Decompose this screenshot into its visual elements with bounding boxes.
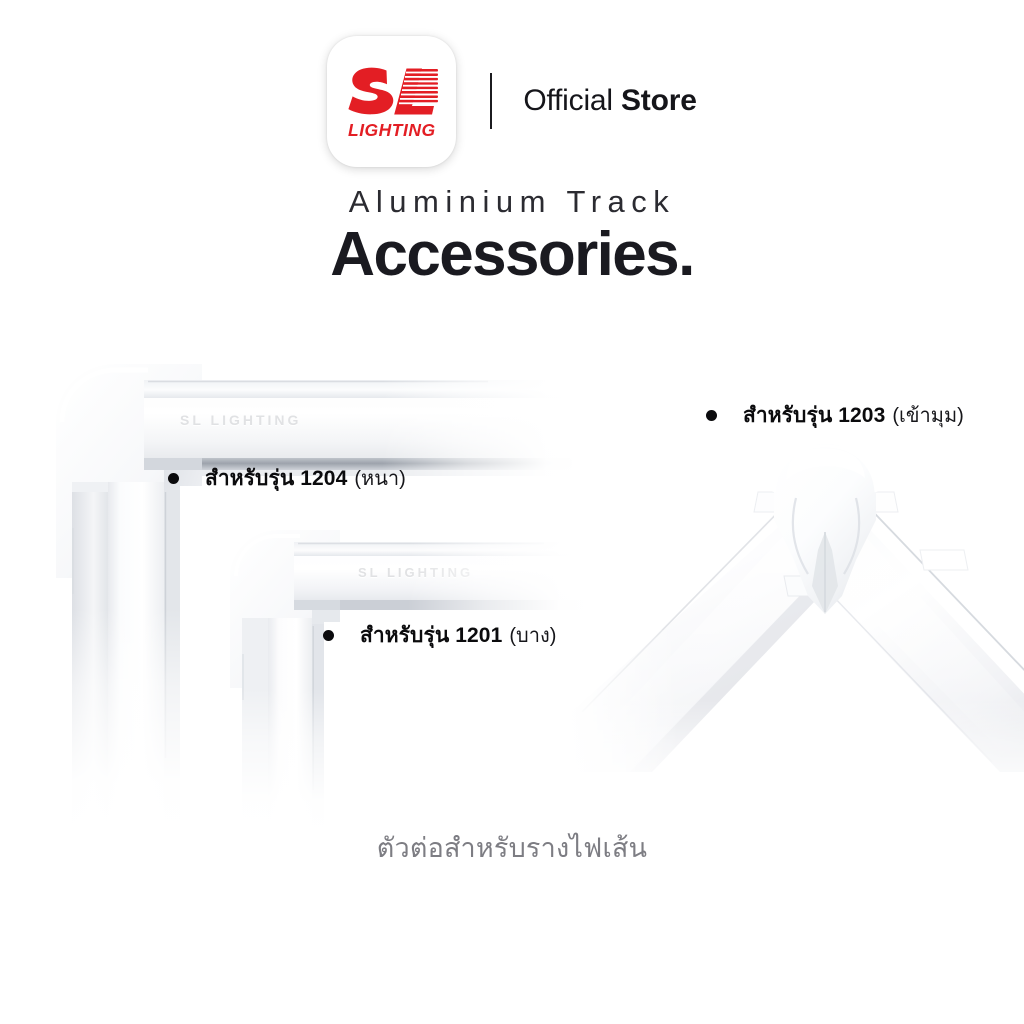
callout-qualifier-1204: (หนา) bbox=[354, 469, 405, 489]
title-block: Aluminium Track Accessories. bbox=[0, 186, 1024, 286]
brand-divider bbox=[490, 73, 492, 129]
official-word: Official bbox=[523, 84, 613, 117]
product-image-1203 bbox=[560, 400, 1024, 820]
product-stage: SL LIGHTING bbox=[0, 340, 1024, 860]
logo-wordmark: LIGHTING bbox=[348, 122, 436, 140]
bullet-dot-icon bbox=[706, 410, 717, 421]
bullet-dot-icon bbox=[168, 473, 179, 484]
callout-1204: สำหรับรุ่น 1204 (หนา) bbox=[168, 468, 406, 489]
callout-qualifier-1201: (บาง) bbox=[509, 626, 556, 646]
page-title: Accessories. bbox=[0, 223, 1024, 286]
callout-1201: สำหรับรุ่น 1201 (บาง) bbox=[323, 625, 556, 646]
callout-model-1201: สำหรับรุ่น 1201 bbox=[360, 625, 502, 646]
brand-header: LIGHTING Official Store bbox=[0, 30, 1024, 172]
callout-qualifier-1203: (เข้ามุม) bbox=[892, 406, 963, 426]
sl-monogram-icon bbox=[346, 66, 438, 118]
bullet-dot-icon bbox=[323, 630, 334, 641]
official-store-label: Official Store bbox=[523, 86, 696, 116]
store-word: Store bbox=[621, 84, 697, 117]
title-kicker: Aluminium Track bbox=[0, 186, 1024, 219]
callout-model-1203: สำหรับรุ่น 1203 bbox=[743, 405, 885, 426]
sl-lighting-logo: LIGHTING bbox=[327, 36, 456, 167]
callout-1203: สำหรับรุ่น 1203 (เข้ามุม) bbox=[706, 405, 964, 426]
product-banner: LIGHTING Official Store Aluminium Track … bbox=[0, 0, 1024, 1024]
footer-caption: ตัวต่อสำหรับรางไฟเส้น bbox=[0, 832, 1024, 864]
callout-model-1204: สำหรับรุ่น 1204 bbox=[205, 468, 347, 489]
product-image-1201: SL LIGHTING bbox=[228, 528, 588, 828]
